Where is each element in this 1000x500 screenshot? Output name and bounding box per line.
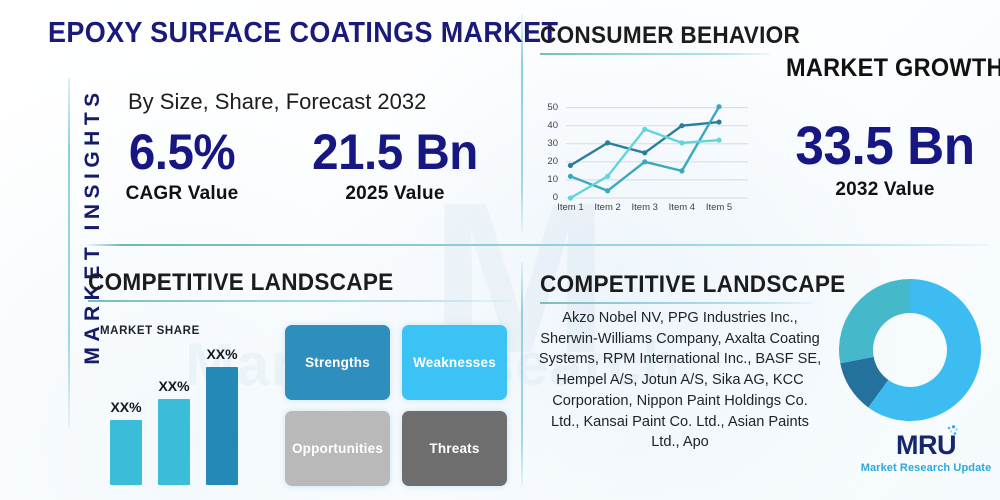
data-point bbox=[642, 159, 647, 164]
logo-mark: MRU bbox=[896, 432, 956, 459]
data-point bbox=[605, 188, 610, 193]
stat-cagr-value: 6.5% bbox=[97, 126, 268, 179]
swot-matrix: Strengths Weaknesses Opportunities Threa… bbox=[285, 325, 507, 487]
data-point bbox=[642, 150, 647, 155]
bar-chart-title: MARKET SHARE bbox=[100, 325, 200, 337]
stat-2025: 21.5 Bn 2025 Value bbox=[290, 126, 500, 205]
bar-item: XX% bbox=[158, 399, 190, 485]
water-droplet-icon bbox=[945, 425, 959, 441]
logo-subtitle: Market Research Update bbox=[856, 462, 996, 474]
stat-2032-value: 33.5 Bn bbox=[785, 118, 985, 175]
bar-value-label: XX% bbox=[149, 378, 199, 394]
bar bbox=[206, 367, 238, 485]
page-title: EPOXY SURFACE COATINGS MARKET bbox=[48, 17, 558, 50]
data-point bbox=[642, 127, 647, 132]
data-point bbox=[605, 140, 610, 145]
swot-box-strengths[interactable]: Strengths bbox=[285, 325, 390, 400]
bar-item: XX% bbox=[206, 367, 238, 485]
data-point bbox=[568, 163, 573, 168]
stat-2025-caption: 2025 Value bbox=[290, 183, 500, 205]
swot-box-threats[interactable]: Threats bbox=[402, 411, 507, 486]
page-subtitle: By Size, Share, Forecast 2032 bbox=[128, 89, 426, 115]
stat-2032: 33.5 Bn 2032 Value bbox=[780, 118, 990, 201]
swot-label-opportunities: Opportunities bbox=[292, 441, 383, 456]
swot-box-opportunities[interactable]: Opportunities bbox=[285, 411, 390, 486]
donut-chart-market-segments bbox=[836, 276, 984, 424]
section-header-competitive-landscape-left: COMPETITIVE LANDSCAPE bbox=[88, 269, 512, 302]
y-axis-tick-label: 50 bbox=[536, 102, 558, 113]
data-point bbox=[679, 140, 684, 145]
swot-label-threats: Threats bbox=[429, 441, 479, 456]
y-axis-tick-label: 10 bbox=[536, 174, 558, 185]
bar-value-label: XX% bbox=[197, 346, 247, 362]
section-underline bbox=[88, 300, 512, 302]
rail-divider bbox=[68, 78, 70, 428]
section-title-competitive-landscape-right: COMPETITIVE LANDSCAPE bbox=[540, 271, 846, 299]
section-title-competitive-landscape-left: COMPETITIVE LANDSCAPE bbox=[88, 269, 487, 297]
stat-2032-caption: 2032 Value bbox=[780, 179, 990, 201]
data-point bbox=[716, 104, 721, 109]
y-axis-tick-label: 20 bbox=[536, 156, 558, 167]
bar-chart-market-share: MARKET SHARE XX%XX%XX% bbox=[100, 325, 280, 485]
y-axis-tick-label: 30 bbox=[536, 138, 558, 149]
swot-box-weaknesses[interactable]: Weaknesses bbox=[402, 325, 507, 400]
swot-label-strengths: Strengths bbox=[305, 355, 370, 370]
bar-value-label: XX% bbox=[101, 399, 151, 415]
infographic-page: M Market Research MARKET INSIGHTS EPOXY … bbox=[0, 0, 1000, 500]
data-point bbox=[679, 123, 684, 128]
section-underline bbox=[540, 53, 770, 55]
data-point bbox=[716, 138, 721, 143]
swot-label-weaknesses: Weaknesses bbox=[413, 355, 496, 370]
data-point bbox=[568, 195, 573, 200]
line-series-1 bbox=[570, 107, 719, 191]
horizontal-divider bbox=[85, 244, 990, 246]
competitor-list: Akzo Nobel NV, PPG Industries Inc., Sher… bbox=[538, 308, 822, 453]
bar bbox=[158, 399, 190, 485]
brand-logo: MRU Market Research Update bbox=[856, 432, 996, 474]
stat-cagr-caption: CAGR Value bbox=[92, 183, 272, 205]
x-axis-tick-label: Item 5 bbox=[697, 202, 741, 213]
section-underline bbox=[540, 302, 813, 304]
bar-chart-bars: XX%XX%XX% bbox=[110, 345, 280, 485]
bar bbox=[110, 420, 142, 485]
vertical-divider-bottom bbox=[521, 262, 523, 486]
section-title-market-growth: MARKET GROWTH bbox=[786, 54, 1000, 83]
stat-2025-value: 21.5 Bn bbox=[295, 126, 495, 179]
section-header-competitive-landscape-right: COMPETITIVE LANDSCAPE bbox=[540, 271, 865, 304]
data-point bbox=[716, 119, 721, 124]
donut-chart-svg bbox=[836, 276, 984, 424]
data-point bbox=[605, 174, 610, 179]
y-axis-tick-label: 40 bbox=[536, 120, 558, 131]
section-header-consumer-behavior: CONSUMER BEHAVIOR bbox=[540, 22, 817, 55]
section-title-consumer-behavior: CONSUMER BEHAVIOR bbox=[540, 22, 800, 50]
donut-segment-2 bbox=[839, 279, 910, 363]
line-chart-consumer-behavior: 01020304050Item 1Item 2Item 3Item 4Item … bbox=[536, 98, 756, 220]
data-point bbox=[568, 174, 573, 179]
data-point bbox=[679, 168, 684, 173]
bar-item: XX% bbox=[110, 420, 142, 485]
stat-cagr: 6.5% CAGR Value bbox=[92, 126, 272, 205]
